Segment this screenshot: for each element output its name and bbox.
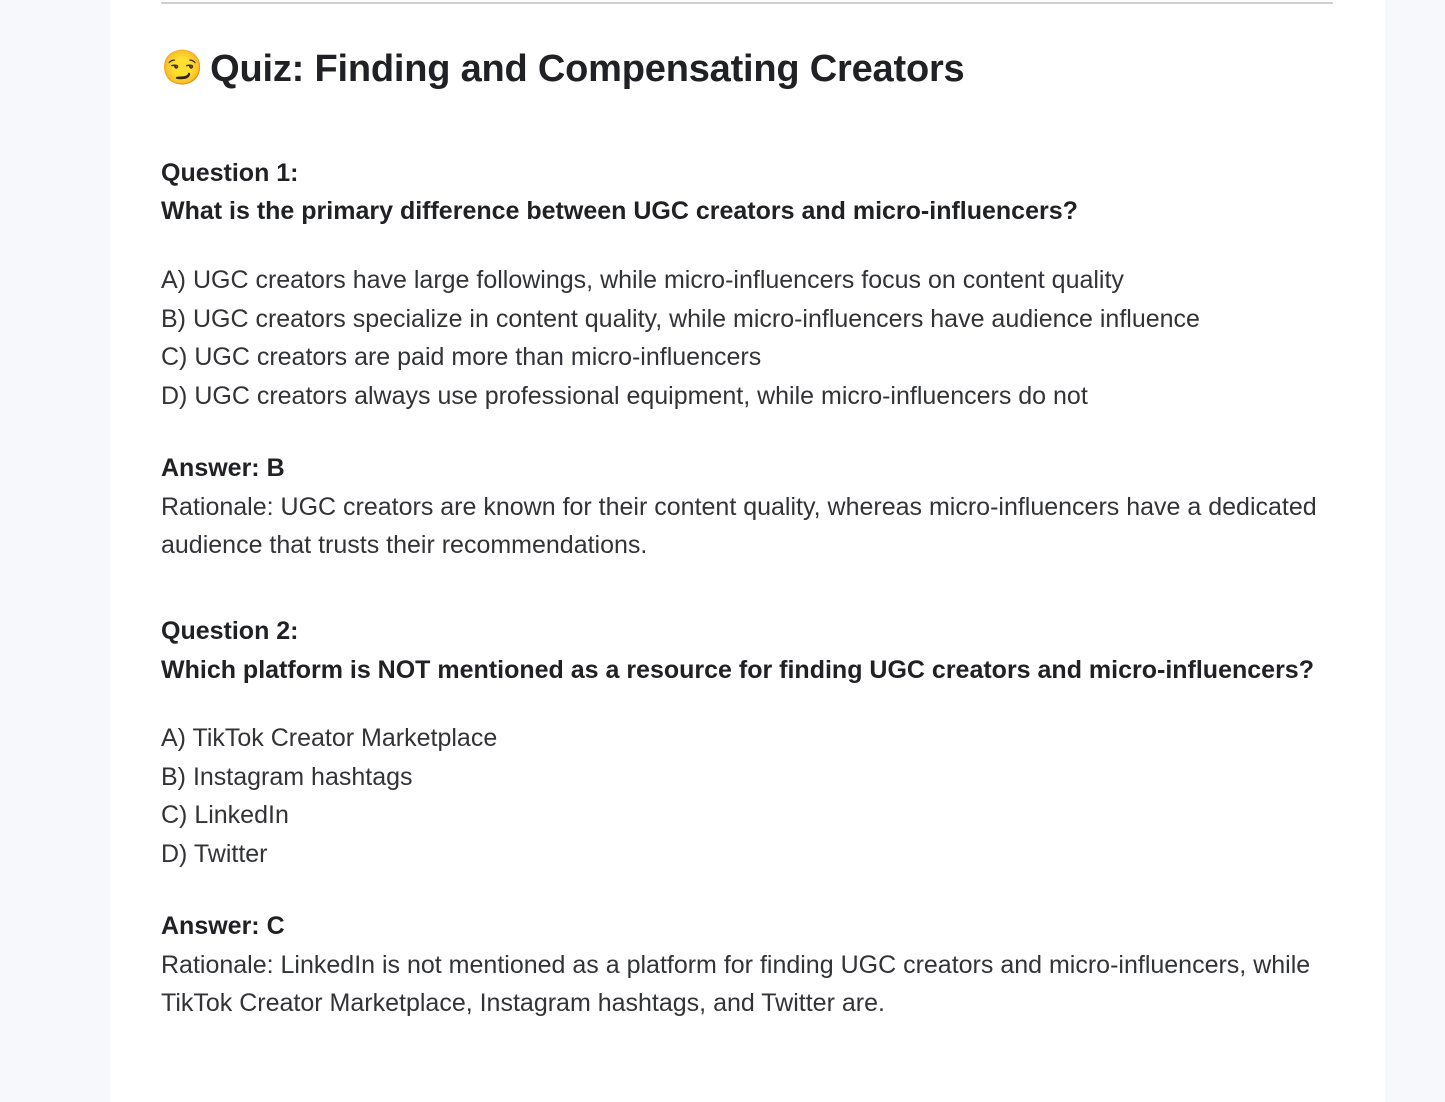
page-title: 😏Quiz: Finding and Compensating Creators [161,0,1341,94]
rationale-text: Rationale: LinkedIn is not mentioned as … [161,946,1341,1022]
option-list: A) UGC creators have large followings, w… [161,261,1341,415]
document-body: 😏Quiz: Finding and Compensating Creators… [161,0,1341,1022]
smirking-face-icon: 😏 [161,49,203,87]
option-list: A) TikTok Creator Marketplace B) Instagr… [161,719,1341,873]
question-text: Which platform is NOT mentioned as a res… [161,651,1341,690]
option-item-c[interactable]: C) UGC creators are paid more than micro… [161,338,1341,377]
option-item-d[interactable]: D) Twitter [161,835,1341,874]
answer-block: Answer: C Rationale: LinkedIn is not men… [161,907,1341,1022]
option-item-b[interactable]: B) Instagram hashtags [161,758,1341,797]
question-label: Question 2: [161,612,1341,651]
question-text: What is the primary difference between U… [161,192,1341,231]
option-item-c[interactable]: C) LinkedIn [161,796,1341,835]
question-label: Question 1: [161,154,1341,193]
option-item-d[interactable]: D) UGC creators always use professional … [161,377,1341,416]
page-title-text: Quiz: Finding and Compensating Creators [210,48,964,90]
option-item-a[interactable]: A) UGC creators have large followings, w… [161,261,1341,300]
answer-text: Answer: B [161,449,1341,488]
question-block: Question 2: Which platform is NOT mentio… [161,612,1341,1022]
answer-block: Answer: B Rationale: UGC creators are kn… [161,449,1341,564]
question-block: Question 1: What is the primary differen… [161,154,1341,564]
option-item-a[interactable]: A) TikTok Creator Marketplace [161,719,1341,758]
rationale-text: Rationale: UGC creators are known for th… [161,488,1341,564]
document-card: 😏Quiz: Finding and Compensating Creators… [110,0,1385,1102]
option-item-b[interactable]: B) UGC creators specialize in content qu… [161,300,1341,339]
page-root: 😏Quiz: Finding and Compensating Creators… [0,0,1445,1102]
answer-text: Answer: C [161,907,1341,946]
